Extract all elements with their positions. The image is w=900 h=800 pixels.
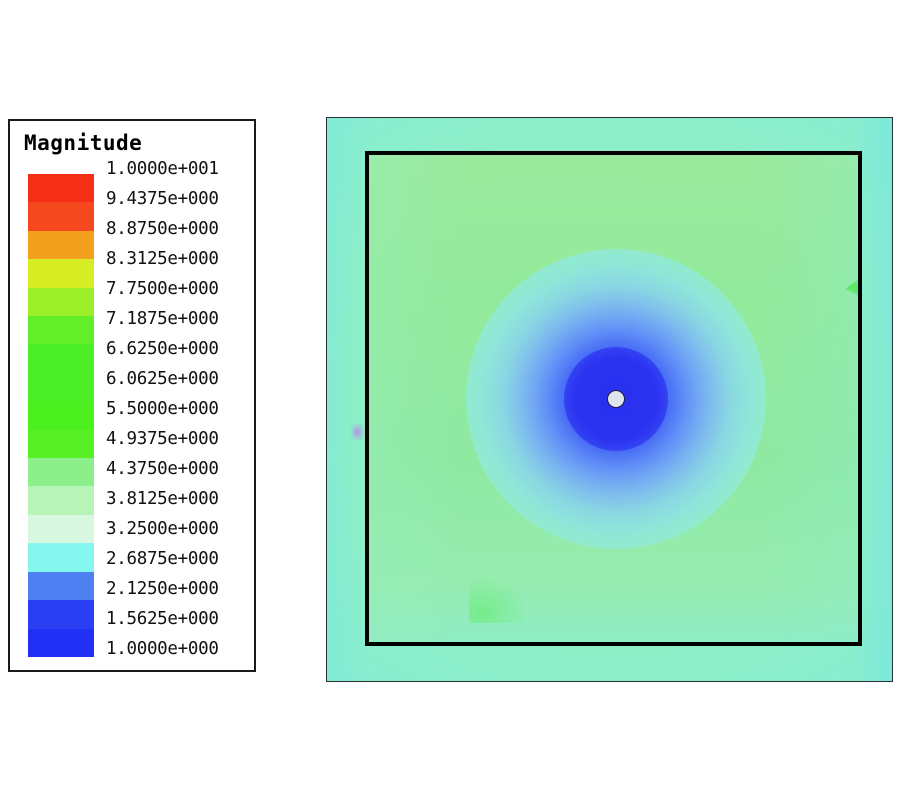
colorbar-band-13 [28,543,94,571]
colorbar-tick-label: 8.8750e+000 [106,219,252,239]
colorbar-band-4 [28,288,94,316]
colorbar-band-1 [28,202,94,230]
colorbar-tick-label: 7.1875e+000 [106,309,252,329]
legend-title: Magnitude [24,131,142,155]
colorbar-tick-label: 3.2500e+000 [106,519,252,539]
colorbar-tick-label: 1.0000e+001 [106,159,252,179]
mesh-artifact-green-lower [469,575,529,623]
colorbar-tick-label: 1.0000e+000 [106,639,252,659]
inner-domain-boundary [365,151,862,646]
colorbar-tick-label: 8.3125e+000 [106,249,252,269]
mesh-artifact-magenta [351,424,364,440]
colorbar-tick-labels: 1.0000e+0019.4375e+0008.8750e+0008.3125e… [106,159,252,669]
colorbar-tick-label: 6.0625e+000 [106,369,252,389]
colorbar-band-6 [28,344,94,372]
colorbar-tick-label: 9.4375e+000 [106,189,252,209]
center-hole-marker [607,390,625,408]
colorbar-band-12 [28,515,94,543]
colorbar-band-7 [28,373,94,401]
colorbar-band-16 [28,629,94,657]
colorbar-band-9 [28,430,94,458]
colorbar-tick-label: 3.8125e+000 [106,489,252,509]
colorbar-tick-label: 2.6875e+000 [106,549,252,569]
colorbar-tick-label: 4.9375e+000 [106,429,252,449]
colorbar-tick-label: 7.7500e+000 [106,279,252,299]
colorbar [28,174,94,657]
colorbar-tick-label: 6.6250e+000 [106,339,252,359]
colorbar-band-11 [28,486,94,514]
legend-panel: Magnitude 1.0000e+0019.4375e+0008.8750e+… [8,119,256,672]
colorbar-band-14 [28,572,94,600]
colorbar-band-10 [28,458,94,486]
colorbar-band-3 [28,259,94,287]
colorbar-band-0 [28,174,94,202]
colorbar-band-5 [28,316,94,344]
colorbar-tick-label: 2.1250e+000 [106,579,252,599]
colorbar-band-2 [28,231,94,259]
colorbar-tick-label: 1.5625e+000 [106,609,252,629]
left-margin-sheen [327,118,367,681]
colorbar-band-8 [28,401,94,429]
field-plot [326,117,893,682]
colorbar-tick-label: 5.5000e+000 [106,399,252,419]
colorbar-band-15 [28,600,94,628]
colorbar-tick-label: 4.3750e+000 [106,459,252,479]
